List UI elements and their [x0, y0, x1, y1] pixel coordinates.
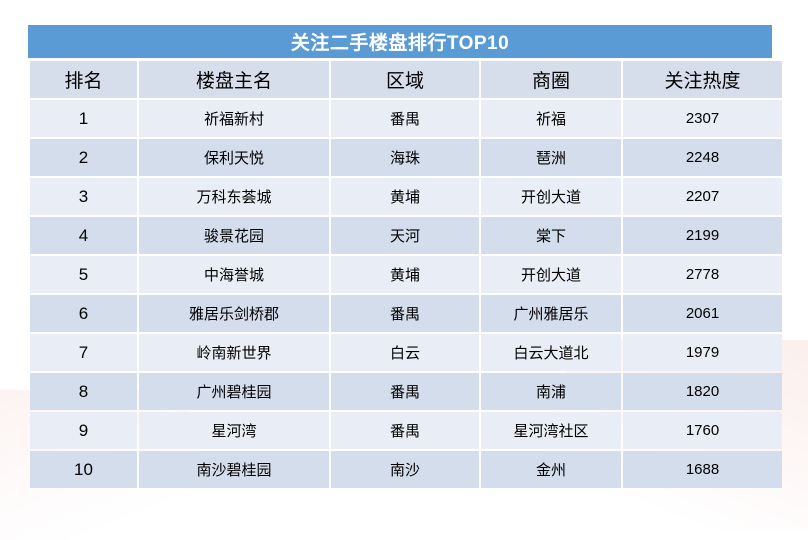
- cell-area: 番禺: [331, 373, 479, 410]
- cell-area: 番禺: [331, 100, 479, 137]
- cell-name: 祈福新村: [139, 100, 329, 137]
- cell-area: 南沙: [331, 451, 479, 488]
- cell-heat: 2248: [623, 139, 782, 176]
- column-header-rank: 排名: [30, 61, 137, 98]
- cell-heat: 1979: [623, 334, 782, 371]
- table-header-row: 排名 楼盘主名 区域 商圈 关注热度: [30, 61, 782, 98]
- table-row: 8 广州碧桂园 番禺 南浦 1820: [30, 373, 782, 410]
- cell-biz: 南浦: [481, 373, 621, 410]
- table-header: 排名 楼盘主名 区域 商圈 关注热度: [30, 61, 782, 98]
- cell-name: 岭南新世界: [139, 334, 329, 371]
- cell-rank: 2: [30, 139, 137, 176]
- cell-biz: 开创大道: [481, 256, 621, 293]
- cell-name: 中海誉城: [139, 256, 329, 293]
- cell-area: 海珠: [331, 139, 479, 176]
- table-row: 9 星河湾 番禺 星河湾社区 1760: [30, 412, 782, 449]
- cell-rank: 10: [30, 451, 137, 488]
- cell-heat: 1760: [623, 412, 782, 449]
- column-header-heat: 关注热度: [623, 61, 782, 98]
- cell-heat: 2778: [623, 256, 782, 293]
- cell-area: 番禺: [331, 295, 479, 332]
- cell-heat: 1688: [623, 451, 782, 488]
- cell-heat: 2061: [623, 295, 782, 332]
- cell-biz: 开创大道: [481, 178, 621, 215]
- cell-area: 天河: [331, 217, 479, 254]
- table-row: 5 中海誉城 黄埔 开创大道 2778: [30, 256, 782, 293]
- column-header-area: 区域: [331, 61, 479, 98]
- cell-biz: 星河湾社区: [481, 412, 621, 449]
- cell-rank: 5: [30, 256, 137, 293]
- cell-area: 黄埔: [331, 256, 479, 293]
- cell-area: 白云: [331, 334, 479, 371]
- table-title-bar: 关注二手楼盘排行TOP10: [28, 25, 772, 58]
- cell-name: 骏景花园: [139, 217, 329, 254]
- cell-rank: 1: [30, 100, 137, 137]
- cell-name: 广州碧桂园: [139, 373, 329, 410]
- table-row: 3 万科东荟城 黄埔 开创大道 2207: [30, 178, 782, 215]
- cell-rank: 8: [30, 373, 137, 410]
- table-row: 4 骏景花园 天河 棠下 2199: [30, 217, 782, 254]
- cell-biz: 白云大道北: [481, 334, 621, 371]
- cell-name: 雅居乐剑桥郡: [139, 295, 329, 332]
- cell-heat: 2307: [623, 100, 782, 137]
- column-header-biz: 商圈: [481, 61, 621, 98]
- table-row: 6 雅居乐剑桥郡 番禺 广州雅居乐 2061: [30, 295, 782, 332]
- cell-name: 万科东荟城: [139, 178, 329, 215]
- table-body: 1 祈福新村 番禺 祈福 2307 2 保利天悦 海珠 琶洲 2248 3 万科…: [30, 100, 782, 488]
- cell-rank: 4: [30, 217, 137, 254]
- table-row: 1 祈福新村 番禺 祈福 2307: [30, 100, 782, 137]
- cell-rank: 6: [30, 295, 137, 332]
- column-header-name: 楼盘主名: [139, 61, 329, 98]
- cell-biz: 金州: [481, 451, 621, 488]
- cell-area: 黄埔: [331, 178, 479, 215]
- page-title: 关注二手楼盘排行TOP10: [291, 28, 509, 55]
- cell-heat: 1820: [623, 373, 782, 410]
- table-row: 7 岭南新世界 白云 白云大道北 1979: [30, 334, 782, 371]
- cell-biz: 广州雅居乐: [481, 295, 621, 332]
- cell-biz: 祈福: [481, 100, 621, 137]
- cell-rank: 9: [30, 412, 137, 449]
- cell-rank: 7: [30, 334, 137, 371]
- cell-heat: 2199: [623, 217, 782, 254]
- cell-name: 星河湾: [139, 412, 329, 449]
- ranking-table: 排名 楼盘主名 区域 商圈 关注热度 1 祈福新村 番禺 祈福 2307 2 保…: [28, 59, 784, 490]
- cell-area: 番禺: [331, 412, 479, 449]
- cell-biz: 棠下: [481, 217, 621, 254]
- cell-rank: 3: [30, 178, 137, 215]
- table-row: 2 保利天悦 海珠 琶洲 2248: [30, 139, 782, 176]
- table-row: 10 南沙碧桂园 南沙 金州 1688: [30, 451, 782, 488]
- cell-name: 南沙碧桂园: [139, 451, 329, 488]
- ranking-table-panel: 关注二手楼盘排行TOP10 排名 楼盘主名 区域 商圈 关注热度 1 祈福新村 …: [28, 25, 772, 490]
- cell-name: 保利天悦: [139, 139, 329, 176]
- cell-heat: 2207: [623, 178, 782, 215]
- cell-biz: 琶洲: [481, 139, 621, 176]
